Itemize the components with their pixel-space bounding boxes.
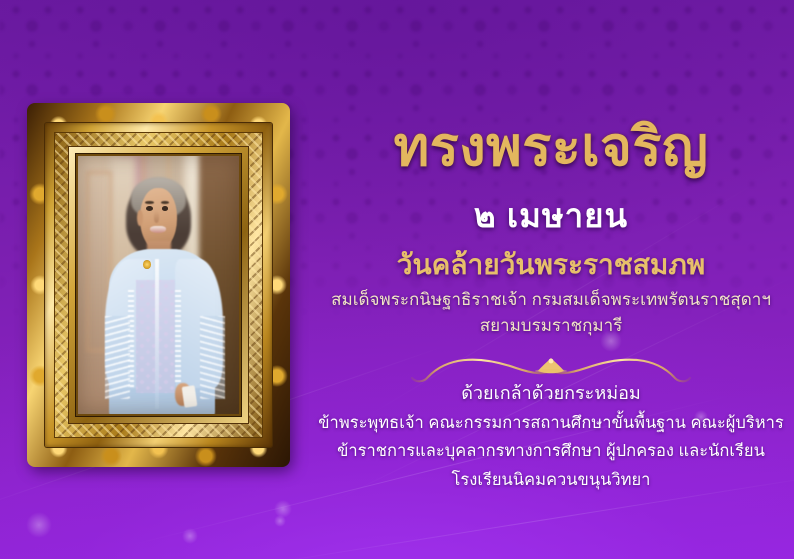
royal-title-line-2: สยามบรมราชกุมารี bbox=[308, 313, 794, 339]
occasion-label: วันคล้ายวันพระราชสมภพ bbox=[308, 243, 794, 287]
royal-title-block: สมเด็จพระกนิษฐาธิราชเจ้า กรมสมเด็จพระเทพ… bbox=[308, 287, 794, 340]
portrait-frame bbox=[27, 103, 290, 467]
bokeh-dot-icon bbox=[274, 515, 286, 527]
closing-line-1: ด้วยเกล้าด้วยกระหม่อม bbox=[308, 378, 794, 409]
closing-dedication-block: ด้วยเกล้าด้วยกระหม่อม ข้าพระพุทธเจ้า คณะ… bbox=[308, 378, 794, 494]
commemorative-date: ๒ เมษายน bbox=[308, 189, 794, 242]
bokeh-dot-icon bbox=[26, 512, 52, 538]
royal-portrait-photo bbox=[78, 156, 239, 414]
royal-title-line-1: สมเด็จพระกนิษฐาธิราชเจ้า กรมสมเด็จพระเทพ… bbox=[308, 287, 794, 313]
bokeh-dot-icon bbox=[182, 528, 198, 544]
royal-commemorative-poster: ทรงพระเจริญ ๒ เมษายน วันคล้ายวันพระราชสม… bbox=[0, 0, 794, 559]
photo-vignette bbox=[78, 156, 239, 414]
headline-long-live-the-king: ทรงพระเจริญ bbox=[308, 118, 794, 176]
closing-line-3: ข้าราชการและบุคลากรทางการศึกษา ผู้ปกครอง… bbox=[308, 437, 794, 465]
text-column: ทรงพระเจริญ ๒ เมษายน วันคล้ายวันพระราชสม… bbox=[308, 0, 794, 559]
closing-line-2: ข้าพระพุทธเจ้า คณะกรรมการสถานศึกษาขั้นพื… bbox=[308, 409, 794, 437]
closing-line-4-school-name: โรงเรียนนิคมควนขนุนวิทยา bbox=[308, 466, 794, 494]
bokeh-dot-icon bbox=[274, 500, 292, 518]
